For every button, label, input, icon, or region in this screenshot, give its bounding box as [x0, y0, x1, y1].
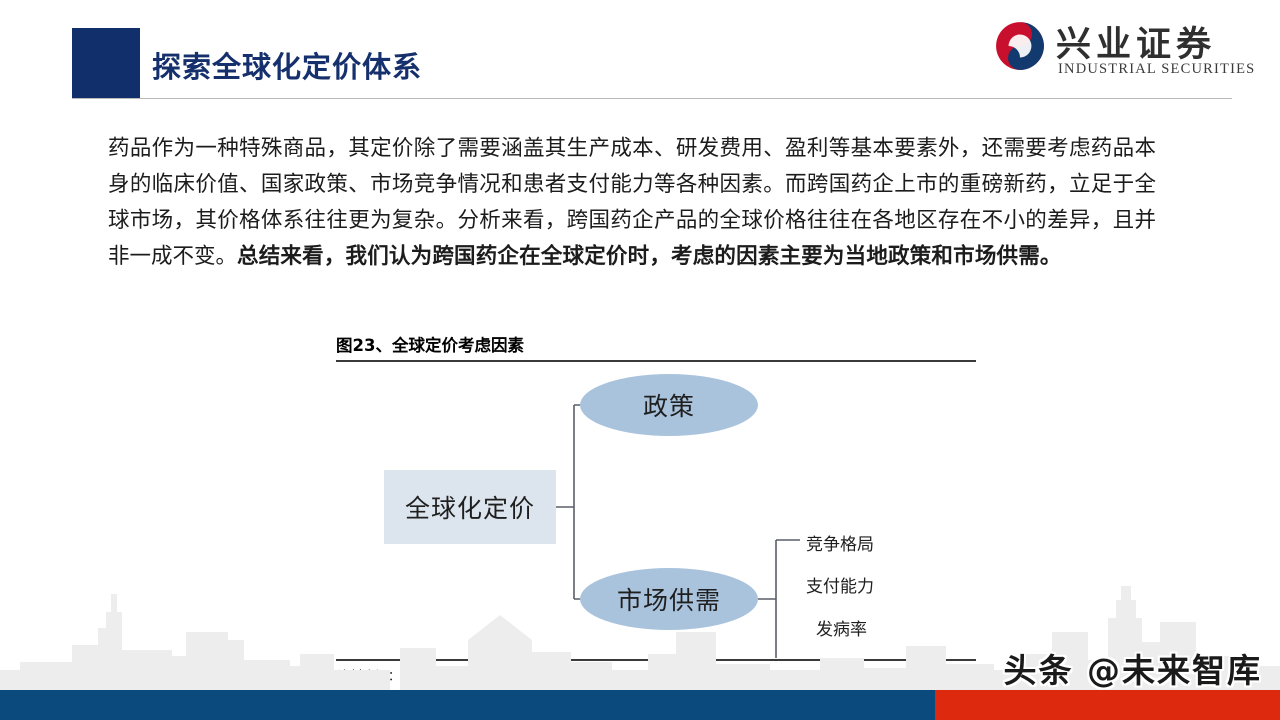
logo-english-name: INDUSTRIAL SECURITIES	[1058, 61, 1255, 78]
watermark-label: 头条 @未来智库	[1004, 644, 1263, 692]
diagram-node-root: 全球化定价	[384, 470, 556, 544]
logo-chinese-name: 兴业证券	[1056, 16, 1216, 67]
diagram-leaf-competition: 竞争格局	[806, 530, 874, 555]
body-text-bold: 总结来看，我们认为跨国药企在全球定价时，考虑的因素主要为当地政策和市场供需。	[237, 244, 1062, 269]
company-logo: 兴业证券 INDUSTRIAL SECURITIES	[994, 16, 1252, 82]
footer-bar-red	[935, 690, 1280, 720]
header-accent-block	[72, 28, 140, 98]
footer-bar-blue	[0, 690, 935, 720]
yinyang-circle-icon	[994, 20, 1046, 72]
body-paragraph: 药品作为一种特殊商品，其定价除了需要涵盖其生产成本、研发费用、盈利等基本要素外，…	[108, 130, 1156, 275]
page-title: 探索全球化定价体系	[152, 44, 422, 86]
figure-title: 图23、全球定价考虑因素	[336, 332, 524, 356]
header-divider	[72, 98, 1232, 99]
diagram-node-policy: 政策	[580, 374, 758, 436]
